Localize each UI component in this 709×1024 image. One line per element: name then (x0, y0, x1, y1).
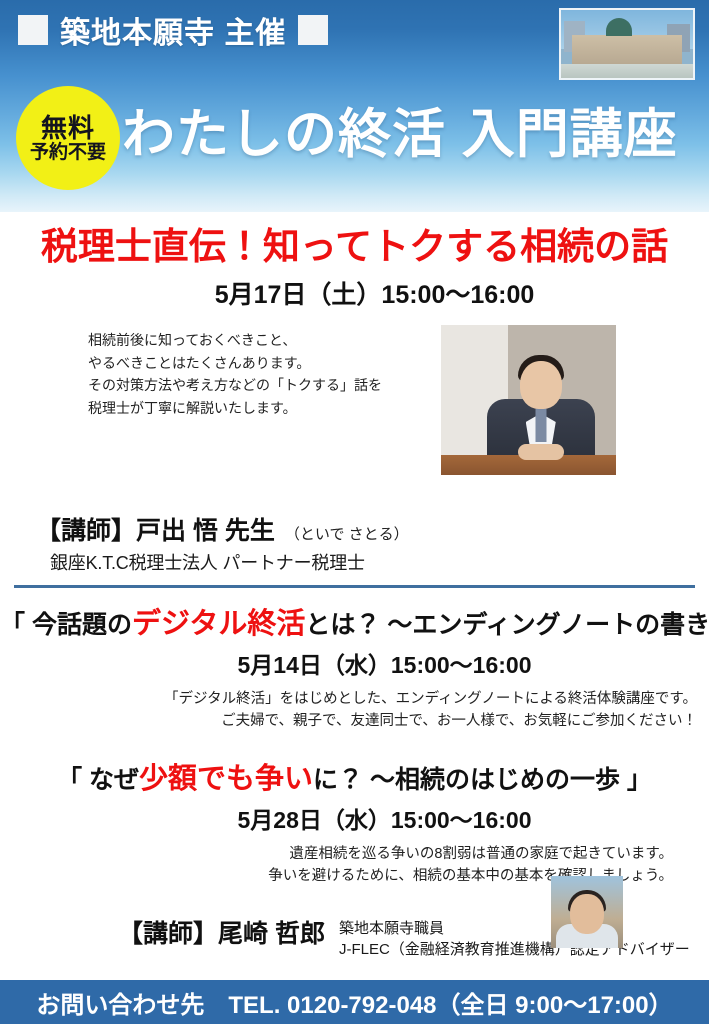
portrait2-face (570, 894, 604, 934)
free-badge-line2: 予約不要 (30, 143, 106, 162)
seminar2-title-highlight: デジタル終活 (132, 608, 305, 640)
seminar1-title: 税理士直伝！知ってトクする相続の話 (0, 228, 709, 267)
temple-photo-main-hall (572, 35, 683, 65)
seminar1-date: 5月17日（土）15:00〜16:00 (0, 275, 709, 311)
seminar1-description: 相続前後に知っておくべきこと、 やるべきことはたくさんあります。 その対策方法や… (88, 329, 382, 420)
host-line: 築地本願寺 主催 (18, 8, 328, 52)
seminar1-lecturer-name-row: 【講師】戸出 悟 先生 （といで さとる） (36, 511, 709, 547)
seminar3-lecturer-name: 【講師】尾崎 哲郎 (118, 914, 325, 950)
seminar1-lecturer-org: 銀座K.T.C税理士法人 パートナー税理士 (36, 549, 709, 575)
seminar3-date: 5月28日（水）15:00〜16:00 (0, 801, 709, 835)
temple-photo (559, 8, 695, 80)
free-badge: 無料 予約不要 (16, 86, 120, 190)
seminar2-title-post: とは？ 〜エンディングノートの書き方 」 (305, 611, 709, 639)
section-seminar-1: 税理士直伝！知ってトクする相続の話 5月17日（土）15:00〜16:00 相続… (0, 212, 709, 575)
seminar1-lecturer-kana: （といで さとる） (285, 523, 409, 544)
temple-photo-ground (561, 64, 693, 78)
seminar3-lecturer-portrait (551, 876, 623, 948)
seminar1-body-row: 相続前後に知っておくべきこと、 やるべきことはたくさんあります。 その対策方法や… (0, 329, 709, 509)
seminar1-description-line: 税理士が丁寧に解説いたします。 (88, 397, 382, 420)
seminar1-lecturer-portrait (441, 325, 616, 475)
seminar3-lecturer-row: 【講師】尾崎 哲郎 築地本願寺職員 J-FLEC（金融経済教育推進機構）認定アド… (0, 914, 709, 984)
contact-footer-text: お問い合わせ先 TEL. 0120-792-048（全日 9:00〜17:00） (36, 985, 672, 1020)
seminar1-description-line: 相続前後に知っておくべきこと、 (88, 329, 382, 352)
seminar2-description-line: ご夫婦で、親子で、友達同士で、お一人様で、お気軽にご参加ください！ (0, 710, 697, 732)
seminar3-description-line: 遺産相続を巡る争いの8割弱は普通の家庭で起きています。 (0, 843, 673, 865)
poster-header: 築地本願寺 主催 無料 予約不要 わたしの終活 入門講座 (0, 0, 709, 212)
seminar3-title-pre: 「 なぜ (57, 766, 139, 794)
seminar2-date: 5月14日（水）15:00〜16:00 (0, 646, 709, 680)
square-marker-right-icon (298, 15, 328, 45)
section-seminar-2: 「 今話題のデジタル終活とは？ 〜エンディングノートの書き方 」 5月14日（水… (0, 588, 709, 733)
portrait1-hands (518, 444, 564, 460)
free-badge-line1: 無料 (41, 115, 95, 141)
contact-footer: お問い合わせ先 TEL. 0120-792-048（全日 9:00〜17:00） (0, 980, 709, 1024)
seminar1-description-line: やるべきことはたくさんあります。 (88, 352, 382, 375)
square-marker-left-icon (18, 15, 48, 45)
seminar3-lecturer-meta-line: J-FLEC（金融経済教育推進機構）認定アドバイザー (339, 939, 690, 961)
portrait1-face (520, 361, 562, 409)
portrait1-necktie (535, 408, 546, 442)
seminar2-description: 「デジタル終活」をはじめとした、エンディングノートによる終活体験講座です。 ご夫… (0, 688, 709, 733)
seminar1-lecturer-name: 【講師】戸出 悟 先生 (36, 511, 275, 547)
seminar3-title-highlight: 少額でも争い (139, 763, 313, 795)
seminar3-lecturer-meta-line: 築地本願寺職員 (339, 918, 690, 940)
section-seminar-3: 「 なぜ少額でも争いに？ 〜相続のはじめの一歩 」 5月28日（水）15:00〜… (0, 733, 709, 984)
seminar3-title: 「 なぜ少額でも争いに？ 〜相続のはじめの一歩 」 (0, 755, 709, 797)
seminar2-description-line: 「デジタル終活」をはじめとした、エンディングノートによる終活体験講座です。 (0, 688, 697, 710)
poster-root: 築地本願寺 主催 無料 予約不要 わたしの終活 入門講座 税理士直伝！知ってトク… (0, 0, 709, 1024)
host-text: 築地本願寺 主催 (60, 8, 286, 52)
seminar2-title: 「 今話題のデジタル終活とは？ 〜エンディングノートの書き方 」 (0, 600, 709, 642)
seminar1-description-line: その対策方法や考え方などの「トクする」話を (88, 374, 382, 397)
seminar1-lecturer-block: 【講師】戸出 悟 先生 （といで さとる） 銀座K.T.C税理士法人 パートナー… (0, 511, 709, 575)
seminar2-title-pre: 「 今話題の (0, 611, 132, 639)
seminar3-title-post: に？ 〜相続のはじめの一歩 」 (313, 766, 652, 794)
poster-main-title: わたしの終活 入門講座 (122, 92, 678, 168)
seminar3-lecturer-meta: 築地本願寺職員 J-FLEC（金融経済教育推進機構）認定アドバイザー (339, 914, 690, 962)
